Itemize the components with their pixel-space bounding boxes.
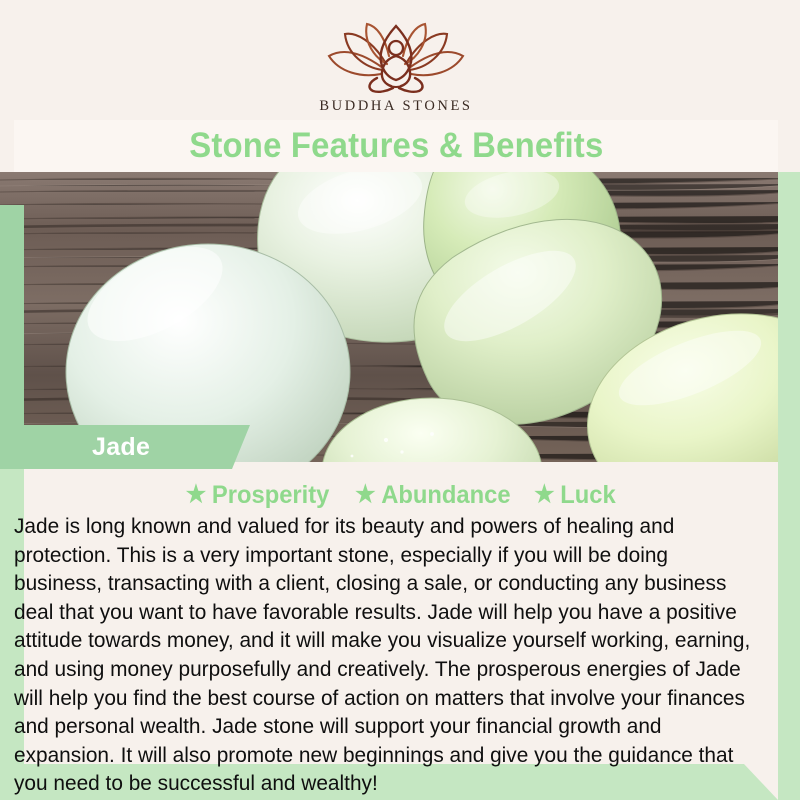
keyword-item-luck: ★ Luck — [535, 481, 617, 510]
star-icon: ★ — [355, 483, 375, 507]
stone-photo — [0, 172, 800, 462]
page-title: Stone Features & Benefits — [189, 126, 603, 166]
keyword-label: Prosperity — [212, 481, 329, 510]
poster-root: BUDDHA STONES Stone Features & Benefits … — [0, 0, 800, 800]
stone-name-banner: Jade — [0, 425, 250, 469]
keyword-label: Abundance — [381, 481, 510, 510]
star-icon: ★ — [535, 483, 555, 507]
keyword-row: ★ Prosperity ★ Abundance ★ Luck — [0, 478, 800, 512]
keyword-item-abundance: ★ Abundance — [355, 481, 510, 510]
brand-name: BUDDHA STONES — [319, 98, 472, 115]
brand-logo: BUDDHA STONES — [14, 22, 778, 115]
description-text: Jade is long known and valued for its be… — [14, 512, 761, 798]
star-icon: ★ — [185, 483, 205, 507]
keyword-label: Luck — [561, 481, 616, 510]
keyword-item-prosperity: ★ Prosperity — [185, 481, 329, 510]
title-band: Stone Features & Benefits — [14, 120, 778, 172]
lotus-meditation-figure-icon — [321, 22, 471, 94]
stone-name-label: Jade — [92, 433, 150, 462]
